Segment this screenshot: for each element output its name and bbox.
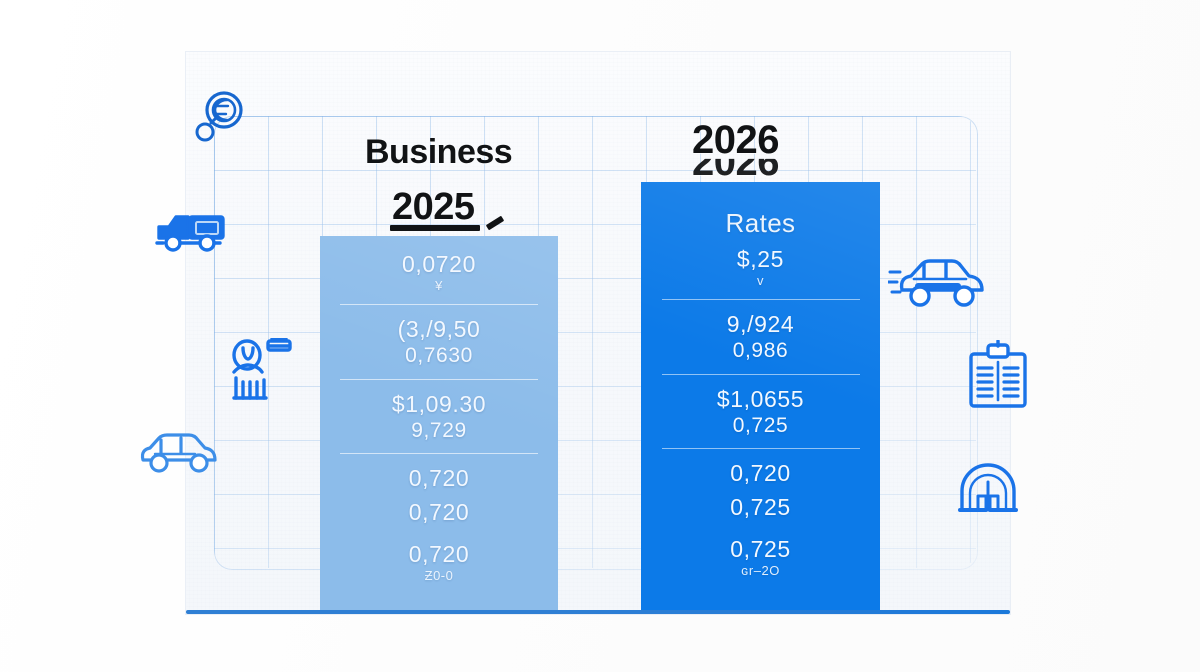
bar-2026-row3-value: $1,0655 bbox=[717, 385, 804, 413]
bar-2025-group-1: 0,0720 ¥ bbox=[402, 250, 476, 294]
bar-2025-row5-value: 0,720 bbox=[409, 498, 470, 526]
truck-icon bbox=[155, 205, 229, 255]
subtitle-year-2026: 2026 bbox=[692, 118, 779, 163]
bar-2026-row2-value: 9,/924 bbox=[727, 310, 795, 338]
bar-2025-group-4: 0,720 0,720 0,720 Ƶ0-0 bbox=[409, 464, 470, 584]
bar-2025-separator-3 bbox=[340, 453, 538, 454]
bar-2025-group-3: $1,09.30 9,729 bbox=[392, 390, 486, 444]
bar-2025-row4-value: 0,720 bbox=[409, 464, 470, 492]
suv-icon bbox=[888, 256, 984, 314]
bar-2026-row1-value: $,25 bbox=[737, 245, 784, 273]
bar-2026[interactable]: Rates $,25 v 9,/924 0,986 $1,0655 0,725 … bbox=[641, 182, 880, 612]
clipboard-icon bbox=[966, 340, 1030, 412]
bar-2025-rows: 0,0720 ¥ (3,/9,50 0,7630 $1,09.30 9,729 … bbox=[320, 236, 558, 584]
bar-2026-group-4: 0,720 0,725 0,725 ɢr–2Ο bbox=[730, 459, 791, 579]
bar-2026-row2-sub: 0,986 bbox=[733, 338, 789, 364]
person-icon bbox=[226, 338, 296, 404]
bar-2026-rows: Rates $,25 v 9,/924 0,986 $1,0655 0,725 … bbox=[641, 182, 880, 579]
bar-2026-group-1: $,25 v bbox=[737, 245, 784, 289]
bar-2025-separator-2 bbox=[340, 379, 538, 380]
car-icon bbox=[137, 430, 221, 476]
bar-2026-separator-2 bbox=[662, 374, 860, 375]
arch-icon bbox=[958, 462, 1018, 518]
bar-2025-group-2: (3,/9,50 0,7630 bbox=[398, 315, 481, 369]
bar-2025-row6-sub: Ƶ0-0 bbox=[425, 568, 454, 584]
bar-2025-row3-sub: 9,729 bbox=[411, 418, 467, 444]
bar-2025-row2-value: (3,/9,50 bbox=[398, 315, 481, 343]
bar-2026-row1-sub: v bbox=[757, 273, 764, 289]
bar-2026-separator-1 bbox=[662, 299, 860, 300]
bar-2026-row3-sub: 0,725 bbox=[733, 413, 789, 439]
bar-2026-row6-value: 0,725 bbox=[730, 535, 791, 563]
bar-2025[interactable]: 0,0720 ¥ (3,/9,50 0,7630 $1,09.30 9,729 … bbox=[320, 236, 558, 612]
bar-2025-row3-value: $1,09.30 bbox=[392, 390, 486, 418]
chart-baseline-axis bbox=[186, 610, 1010, 614]
subtitle-year-2025: 2025 bbox=[392, 186, 475, 229]
page-title: Business bbox=[365, 133, 512, 172]
bar-2025-row1-value: 0,0720 bbox=[402, 250, 476, 278]
bar-2026-separator-3 bbox=[662, 448, 860, 449]
title-underline bbox=[390, 225, 480, 231]
bar-2025-row2-sub: 0,7630 bbox=[405, 343, 473, 369]
bar-2026-row5-value: 0,725 bbox=[730, 493, 791, 521]
bar-2025-row1-sub: ¥ bbox=[435, 278, 443, 294]
bar-2025-row6-value: 0,720 bbox=[409, 540, 470, 568]
bar-2026-group-3: $1,0655 0,725 bbox=[717, 385, 804, 439]
search-icon bbox=[194, 90, 246, 150]
bar-2026-group-2: 9,/924 0,986 bbox=[727, 310, 795, 364]
bar-2026-row6-sub: ɢr–2Ο bbox=[741, 563, 780, 579]
bar-2025-separator-1 bbox=[340, 304, 538, 305]
chart-canvas: Business 2025 2026 2026 0,0720 ¥ (3,/9,5… bbox=[0, 0, 1200, 672]
bar-2026-title: Rates bbox=[726, 208, 796, 239]
bar-2026-row4-value: 0,720 bbox=[730, 459, 791, 487]
